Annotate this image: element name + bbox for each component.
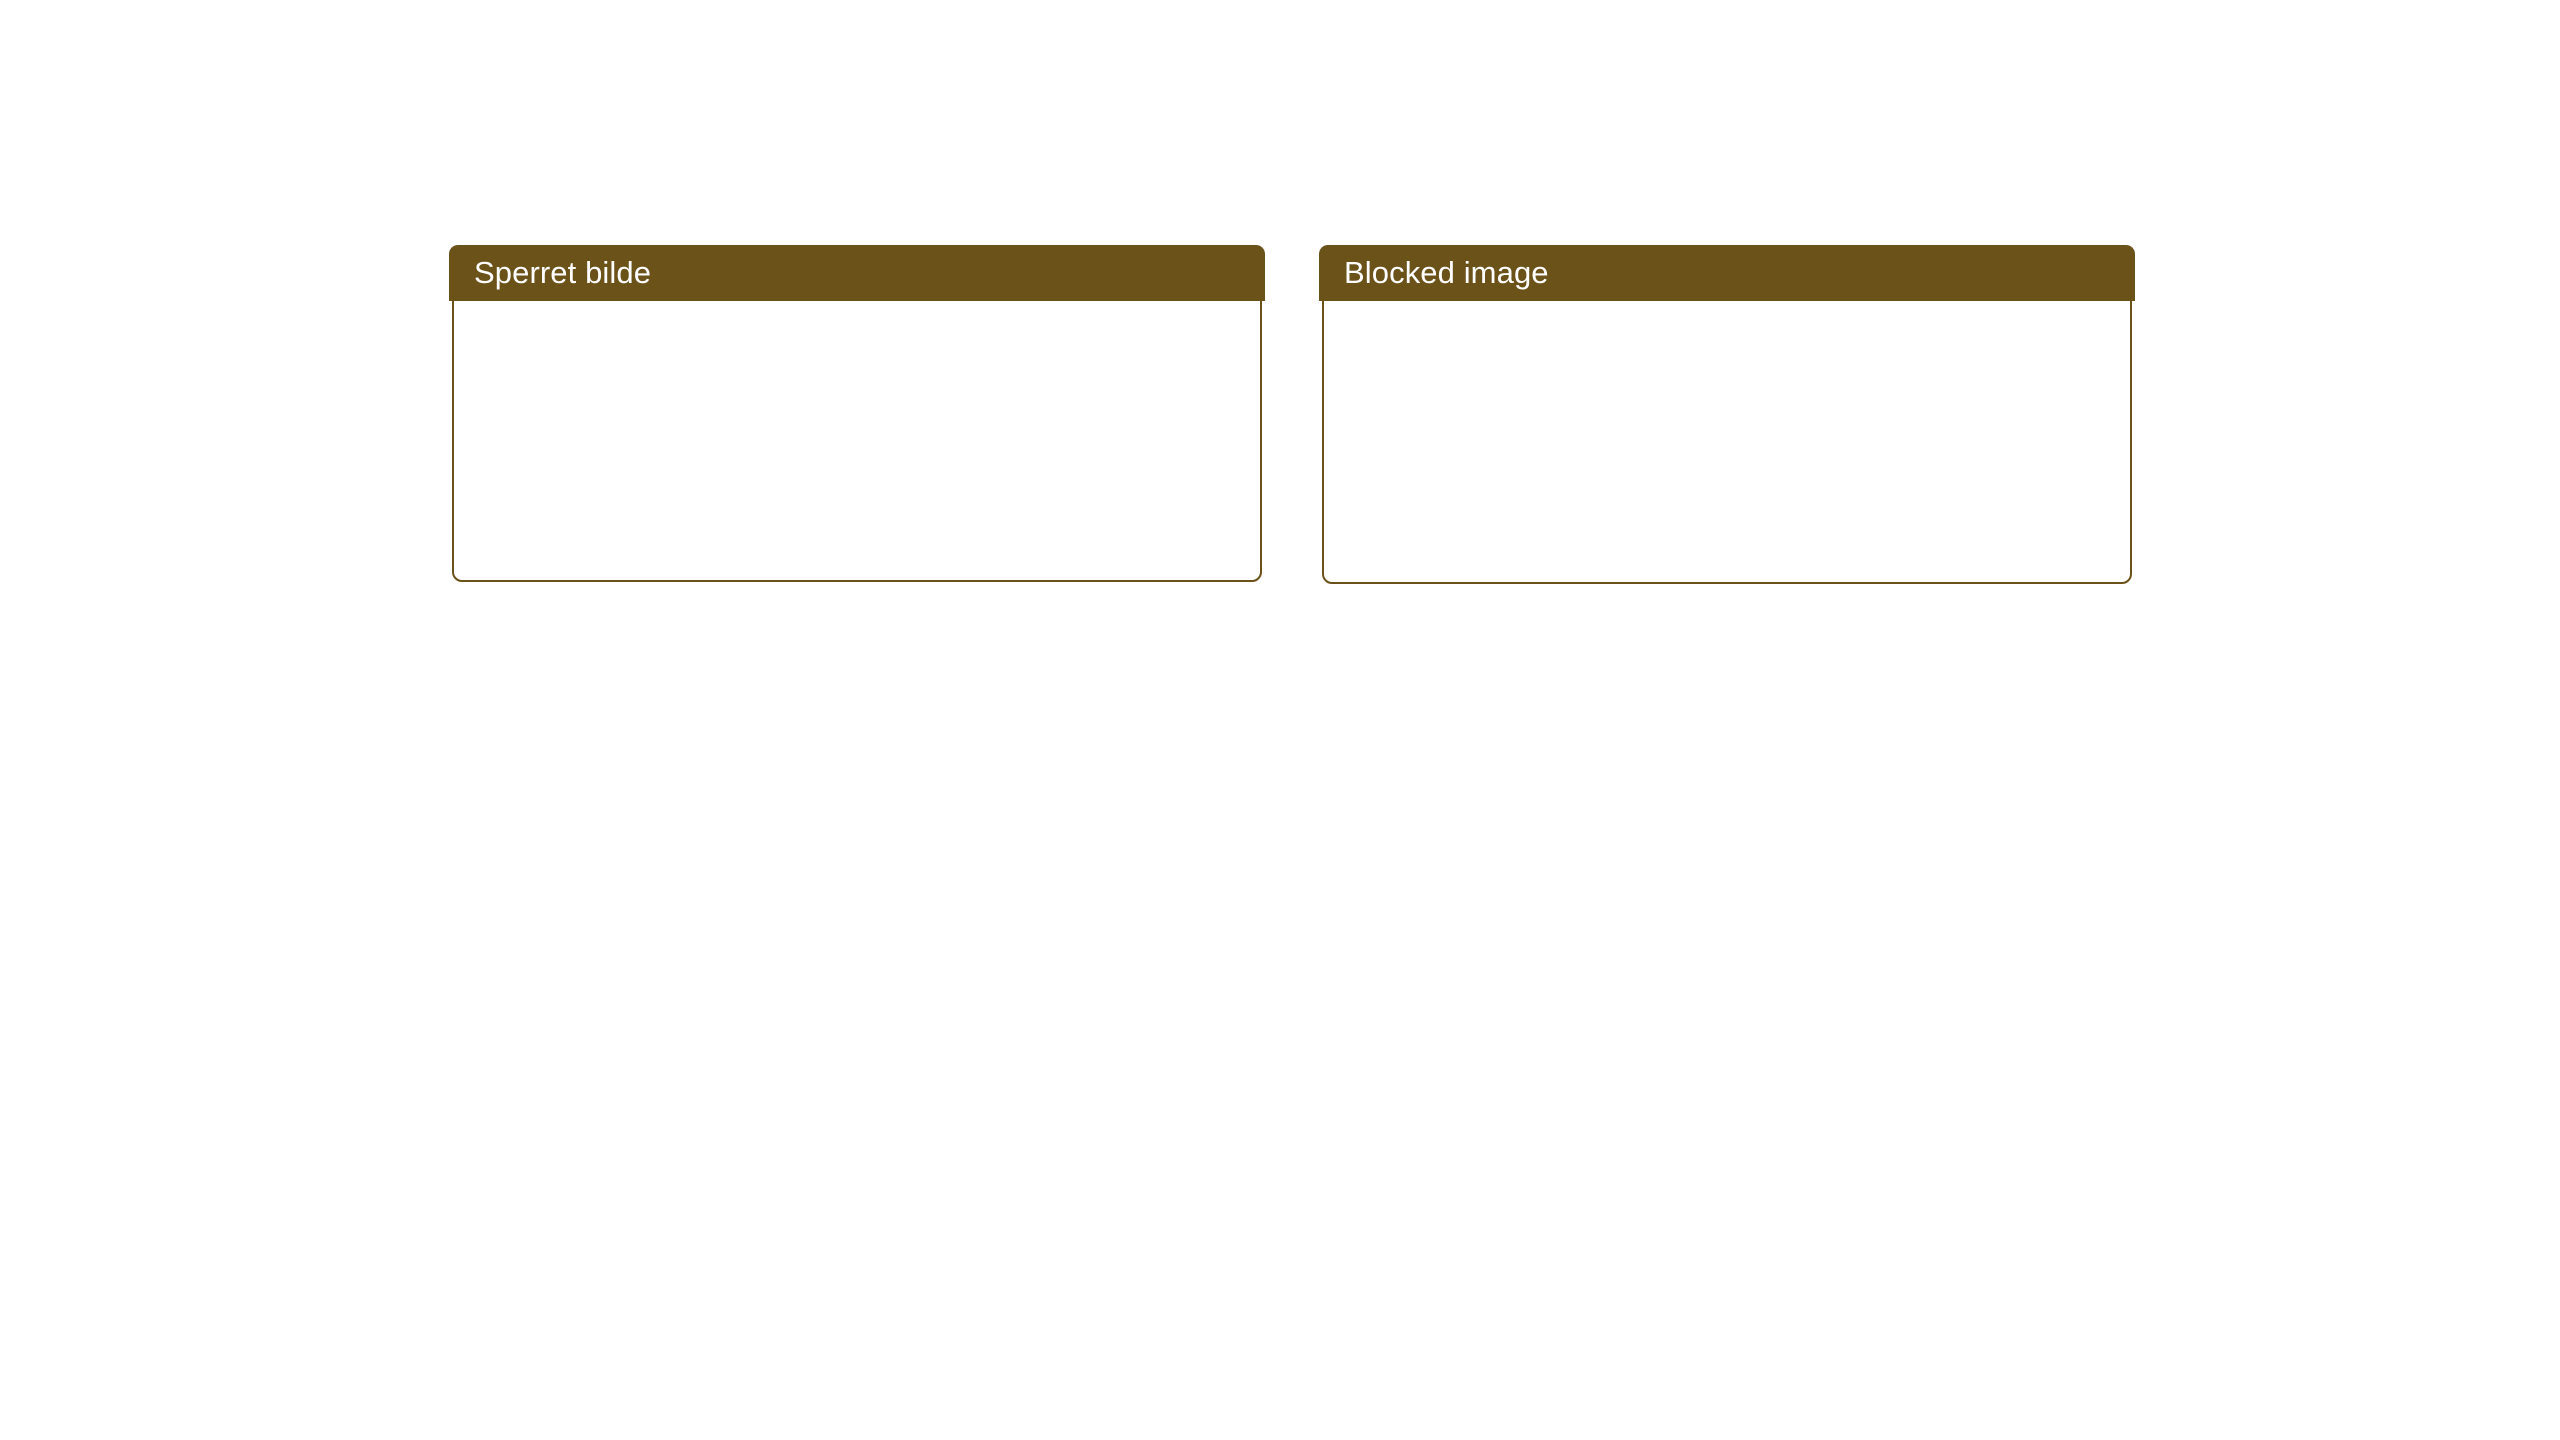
notice-card-title-no: Sperret bilde xyxy=(474,256,651,290)
page-root: Sperret bilde Dette bildet er sperret gr… xyxy=(0,0,2560,1440)
notice-card-header-no: Sperret bilde xyxy=(449,245,1265,301)
notice-card-header-en: Blocked image xyxy=(1319,245,2135,301)
blocked-image-notice-card-no: Sperret bilde Dette bildet er sperret gr… xyxy=(452,245,1262,582)
notice-card-title-en: Blocked image xyxy=(1344,256,1549,290)
blocked-image-notice-card-en: Blocked image This image is restricted f… xyxy=(1322,245,2132,584)
